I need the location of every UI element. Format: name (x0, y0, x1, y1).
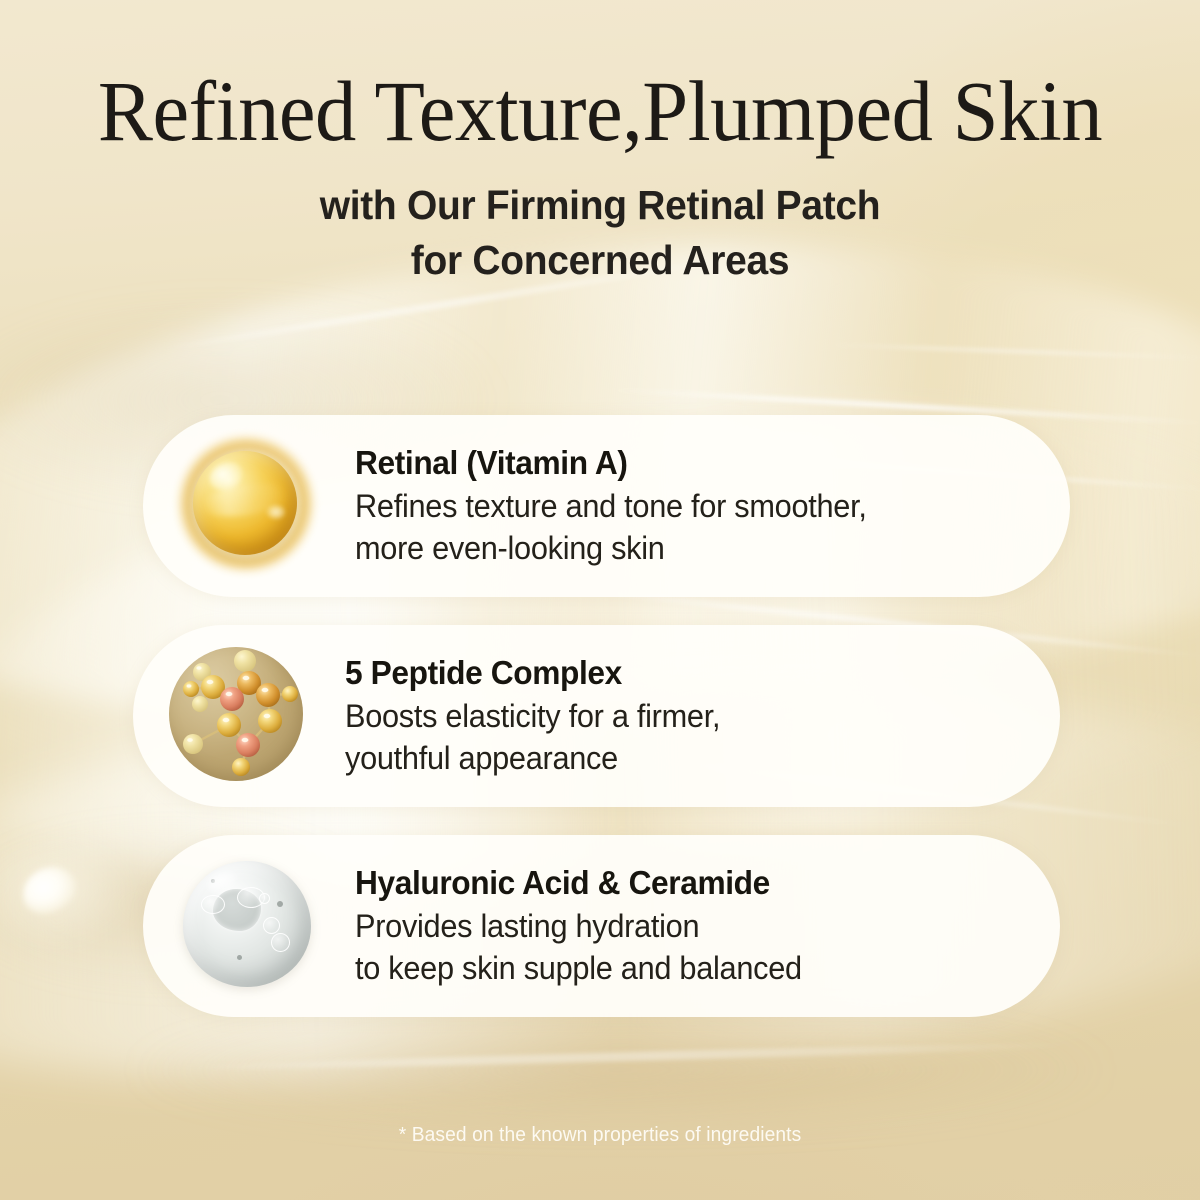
ingredient-card-hyaluronic: Hyaluronic Acid & Ceramide Provides last… (143, 835, 1060, 1017)
oil-specular-highlight-small (267, 505, 285, 519)
gel-bubble (263, 917, 280, 934)
golden-oil-droplet-icon (171, 431, 321, 581)
peptide-network-graphic (169, 647, 303, 781)
gel-bubble (201, 895, 225, 914)
subtitle-line-2: for Concerned Areas (30, 233, 1170, 288)
ingredient-text-block: 5 Peptide Complex Boosts elasticity for … (323, 653, 1060, 779)
subtitle-line-1: with Our Firming Retinal Patch (30, 178, 1170, 233)
description-line-1: Boosts elasticity for a firmer, (345, 696, 1005, 738)
ingredient-card-retinal: Retinal (Vitamin A) Refines texture and … (143, 415, 1070, 597)
ingredient-text-block: Hyaluronic Acid & Ceramide Provides last… (333, 863, 1060, 989)
gel-speck (237, 955, 242, 960)
ingredient-description: Boosts elasticity for a firmer, youthful… (345, 696, 1005, 779)
description-line-2: youthful appearance (345, 738, 1005, 780)
description-line-1: Refines texture and tone for smoother, (355, 486, 1015, 528)
ingredient-text-block: Retinal (Vitamin A) Refines texture and … (333, 443, 1070, 569)
gel-droplet-icon (171, 851, 321, 1001)
ingredient-card-peptide: 5 Peptide Complex Boosts elasticity for … (133, 625, 1060, 807)
product-ingredient-infographic: Refined Texture,Plumped Skin with Our Fi… (0, 0, 1200, 1200)
description-line-1: Provides lasting hydration (355, 906, 1005, 948)
gel-speck (277, 901, 283, 907)
disclaimer-footnote: * Based on the known properties of ingre… (24, 1124, 1176, 1147)
ingredient-title: 5 Peptide Complex (345, 653, 1005, 693)
ingredient-description: Provides lasting hydration to keep skin … (355, 906, 1005, 989)
ingredient-title: Retinal (Vitamin A) (355, 443, 1015, 483)
gel-bubble (259, 893, 270, 904)
ingredient-card-list: Retinal (Vitamin A) Refines texture and … (0, 415, 1200, 1045)
page-subtitle: with Our Firming Retinal Patch for Conce… (30, 178, 1170, 287)
page-title: Refined Texture,Plumped Skin (24, 68, 1176, 154)
description-line-2: more even-looking skin (355, 528, 1015, 570)
description-line-2: to keep skin supple and balanced (355, 948, 1005, 990)
ingredient-description: Refines texture and tone for smoother, m… (355, 486, 1015, 569)
ingredient-title: Hyaluronic Acid & Ceramide (355, 863, 1005, 903)
gel-bubble (271, 933, 290, 952)
peptide-molecule-icon (161, 641, 311, 791)
